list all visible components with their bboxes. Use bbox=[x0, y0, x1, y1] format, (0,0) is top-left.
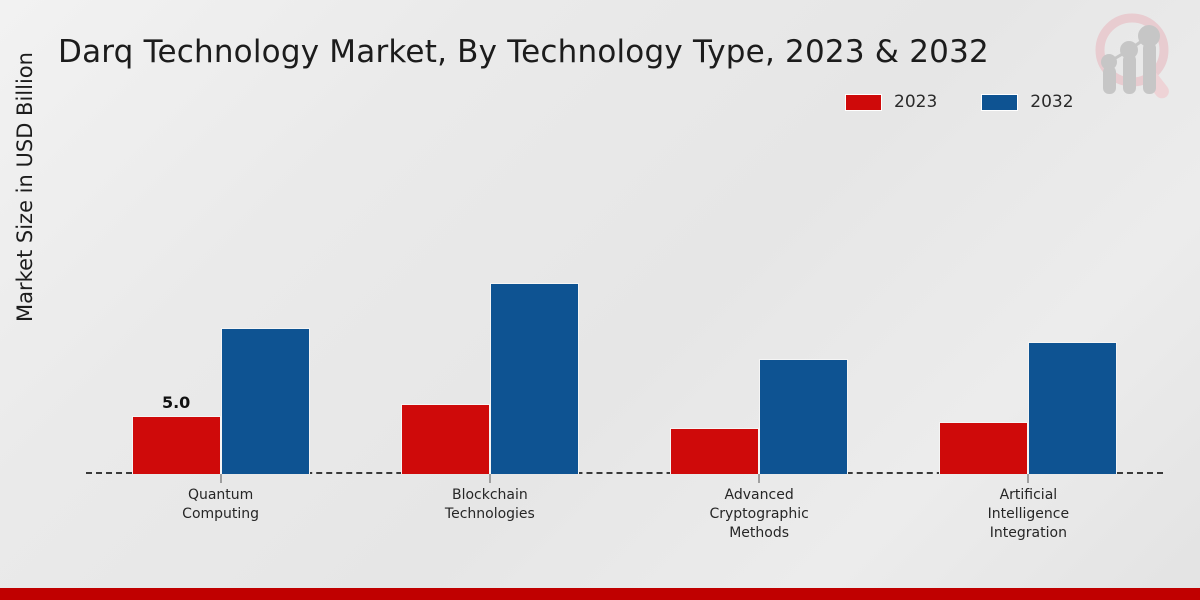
category-line: Quantum bbox=[121, 486, 321, 505]
x-axis-tick bbox=[489, 474, 490, 483]
bar-group: 5.0QuantumComputing bbox=[86, 150, 355, 474]
category-line: Integration bbox=[928, 524, 1128, 543]
chart-title: Darq Technology Market, By Technology Ty… bbox=[58, 34, 989, 70]
bar-2023[interactable]: 5.0 bbox=[132, 416, 221, 474]
category-line: Computing bbox=[121, 505, 321, 524]
x-axis-tick bbox=[1028, 474, 1029, 483]
chart-canvas: Darq Technology Market, By Technology Ty… bbox=[0, 0, 1200, 600]
x-axis-category-label: ArtificialIntelligenceIntegration bbox=[928, 486, 1128, 543]
category-line: Artificial bbox=[928, 486, 1128, 505]
bar-group: ArtificialIntelligenceIntegration bbox=[894, 150, 1163, 474]
x-axis-category-label: QuantumComputing bbox=[121, 486, 321, 524]
x-axis-category-label: AdvancedCryptographicMethods bbox=[659, 486, 859, 543]
bar-2032[interactable] bbox=[759, 359, 848, 474]
plot-area: 5.0QuantumComputingBlockchainTechnologie… bbox=[86, 150, 1163, 474]
bar-pair bbox=[355, 150, 624, 474]
bar-pair: 5.0 bbox=[86, 150, 355, 474]
legend-swatch-2023 bbox=[845, 94, 882, 111]
chart-legend: 2023 2032 bbox=[845, 92, 1074, 112]
bar-group: BlockchainTechnologies bbox=[355, 150, 624, 474]
category-line: Blockchain bbox=[390, 486, 590, 505]
bar-2023[interactable] bbox=[670, 428, 759, 474]
bar-value-label: 5.0 bbox=[162, 393, 190, 412]
category-line: Technologies bbox=[390, 505, 590, 524]
bar-pair bbox=[625, 150, 894, 474]
bar-2032[interactable] bbox=[490, 283, 579, 474]
category-line: Methods bbox=[659, 524, 859, 543]
bar-groups: 5.0QuantumComputingBlockchainTechnologie… bbox=[86, 150, 1163, 474]
category-line: Cryptographic bbox=[659, 505, 859, 524]
legend-item-2032[interactable]: 2032 bbox=[981, 92, 1073, 112]
bar-2032[interactable] bbox=[221, 328, 310, 474]
bar-group: AdvancedCryptographicMethods bbox=[625, 150, 894, 474]
x-axis-category-label: BlockchainTechnologies bbox=[390, 486, 590, 524]
x-axis-tick bbox=[220, 474, 221, 483]
footer-accent-bar bbox=[0, 588, 1200, 600]
legend-item-2023[interactable]: 2023 bbox=[845, 92, 937, 112]
watermark-logo-icon bbox=[1080, 4, 1190, 108]
legend-label-2032: 2032 bbox=[1030, 92, 1073, 112]
x-axis-tick bbox=[759, 474, 760, 483]
bar-2023[interactable] bbox=[939, 422, 1028, 474]
bar-2032[interactable] bbox=[1028, 342, 1117, 474]
category-line: Advanced bbox=[659, 486, 859, 505]
y-axis-title: Market Size in USD Billion bbox=[13, 22, 37, 352]
bar-pair bbox=[894, 150, 1163, 474]
legend-swatch-2032 bbox=[981, 94, 1018, 111]
bar-2023[interactable] bbox=[401, 404, 490, 474]
category-line: Intelligence bbox=[928, 505, 1128, 524]
legend-label-2023: 2023 bbox=[894, 92, 937, 112]
